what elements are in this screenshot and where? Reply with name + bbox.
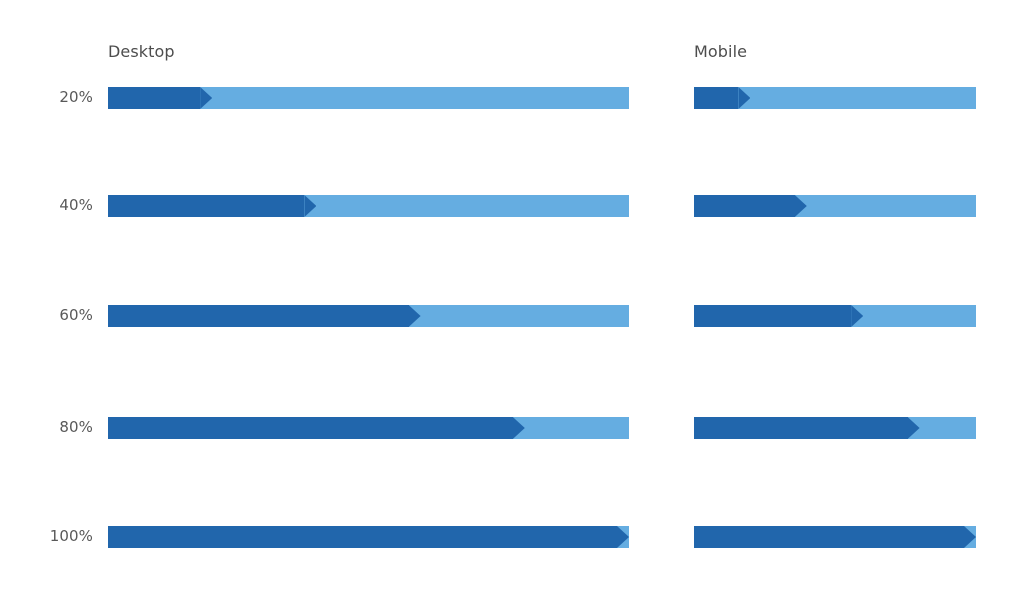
progress-fill — [108, 87, 200, 109]
column-header-mobile: Mobile — [694, 44, 747, 60]
progress-chevron-tip-icon — [617, 526, 629, 548]
progress-chevron-tip-icon — [513, 417, 525, 439]
progress-bar-mobile-100 — [694, 526, 976, 548]
progress-fill — [694, 87, 738, 109]
progress-fill — [108, 417, 513, 439]
progress-bar-mobile-60 — [694, 305, 976, 327]
row-label-60: 60% — [59, 308, 93, 323]
progress-bar-desktop-40 — [108, 195, 629, 217]
progress-fill — [694, 526, 964, 548]
progress-chevron-tip-icon — [851, 305, 863, 327]
progress-chevron-tip-icon — [409, 305, 421, 327]
progress-bar-desktop-20 — [108, 87, 629, 109]
progress-chart: DesktopMobile20%40%60%80%100% — [0, 0, 1028, 612]
progress-chevron-tip-icon — [200, 87, 212, 109]
progress-fill — [108, 305, 409, 327]
progress-bar-mobile-20 — [694, 87, 976, 109]
progress-fill — [108, 195, 304, 217]
progress-chevron-tip-icon — [304, 195, 316, 217]
column-header-desktop: Desktop — [108, 44, 175, 60]
progress-chevron-tip-icon — [795, 195, 807, 217]
progress-chevron-tip-icon — [738, 87, 750, 109]
progress-fill — [694, 305, 851, 327]
progress-chevron-tip-icon — [964, 526, 976, 548]
row-label-100: 100% — [50, 529, 93, 544]
progress-bar-mobile-80 — [694, 417, 976, 439]
progress-chevron-tip-icon — [908, 417, 920, 439]
progress-fill — [694, 195, 795, 217]
progress-bar-desktop-100 — [108, 526, 629, 548]
progress-fill — [694, 417, 908, 439]
row-label-20: 20% — [59, 90, 93, 105]
progress-fill — [108, 526, 617, 548]
row-label-80: 80% — [59, 420, 93, 435]
row-label-40: 40% — [59, 198, 93, 213]
progress-bar-desktop-80 — [108, 417, 629, 439]
progress-bar-mobile-40 — [694, 195, 976, 217]
progress-bar-desktop-60 — [108, 305, 629, 327]
